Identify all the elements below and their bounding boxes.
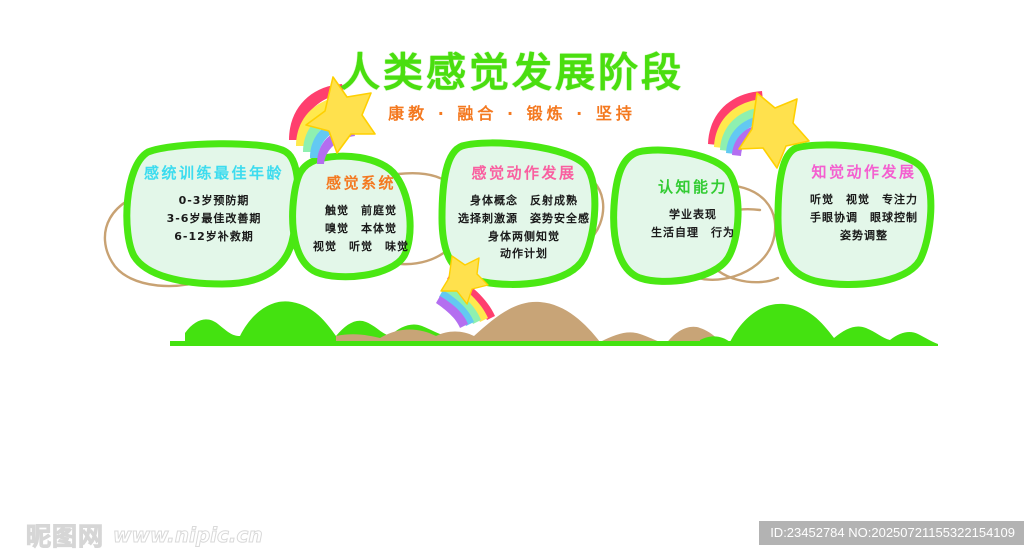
panel-blob-5 bbox=[778, 145, 931, 285]
hill-tan-center bbox=[336, 302, 724, 346]
artboard bbox=[0, 0, 1024, 505]
poster-canvas: 人类感觉发展阶段 康教 · 融合 · 锻炼 · 坚持 感统训练最佳年龄 0-3岁… bbox=[0, 0, 1024, 556]
watermark-url-text: www.nipic.cn bbox=[113, 523, 263, 547]
panel-blob-4 bbox=[614, 150, 738, 281]
footer-bar: 昵图网 www.nipic.cn ID:23452784 NO:20250721… bbox=[0, 505, 1024, 556]
panel-blob-1 bbox=[127, 144, 298, 284]
panel-blobs bbox=[127, 143, 931, 285]
panel-blob-3 bbox=[442, 143, 595, 285]
asset-id-badge: ID:23452784 NO:20250721155322154109 bbox=[759, 521, 1024, 545]
hill-green-right bbox=[700, 304, 938, 346]
decor-top-left bbox=[289, 77, 375, 164]
hill-row bbox=[170, 301, 938, 346]
watermark-logo-text: 昵图网 bbox=[26, 517, 104, 553]
site-watermark: 昵图网 www.nipic.cn bbox=[26, 517, 263, 553]
ground-line bbox=[170, 341, 870, 346]
panel-blob-2 bbox=[293, 156, 410, 277]
